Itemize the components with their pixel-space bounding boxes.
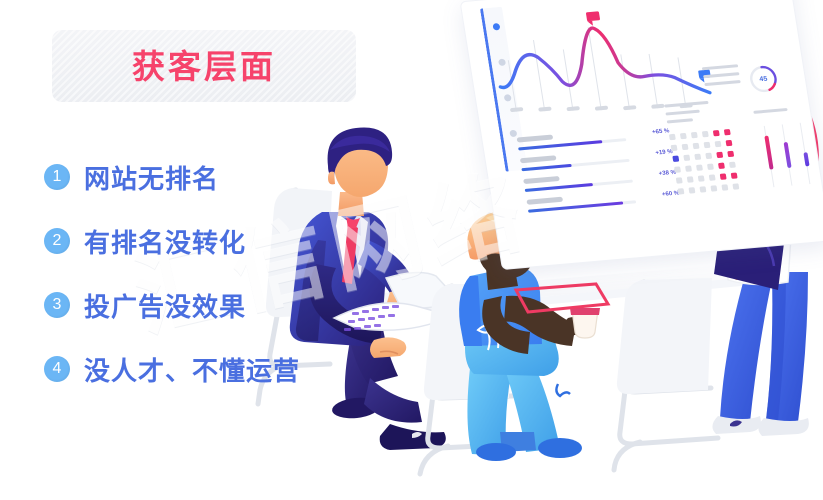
matrix-caption-lines [664,101,712,129]
list-badge-4: 4 [44,356,70,382]
sidebar-dot-4[interactable] [509,130,517,138]
list-badge-1: 1 [44,164,70,190]
list-item[interactable]: 3 投广告没效果 [44,278,364,332]
list-item-label: 投广告没效果 [84,287,246,324]
flag-marker-peak [584,10,605,29]
progress-fill [518,140,602,150]
poster-canvas: 45 +65 % +19 % [0,0,823,500]
list-item[interactable]: 2 有排名没转化 [44,214,364,268]
page-title: 获客层面 [132,50,276,83]
list-badge-2: 2 [44,228,70,254]
title-card: 获客层面 [52,30,356,102]
list-item-label: 没人才、不懂运营 [84,351,300,388]
gauge-value: 45 [746,63,781,95]
bullet-list: 1 网站无排名 2 有排名没转化 3 投广告没效果 4 没人才、不懂运营 [44,150,364,406]
list-item[interactable]: 1 网站无排名 [44,150,364,204]
list-badge-3: 3 [44,292,70,318]
gauge-caption-lines [702,64,742,91]
list-item-label: 有排名没转化 [84,223,246,260]
candlestick-chart [756,122,823,196]
gauge-widget: 45 [746,63,781,95]
list-item-label: 网站无排名 [84,159,219,196]
progress-value: +65 % [652,128,670,135]
list-item[interactable]: 4 没人才、不懂运营 [44,342,364,396]
